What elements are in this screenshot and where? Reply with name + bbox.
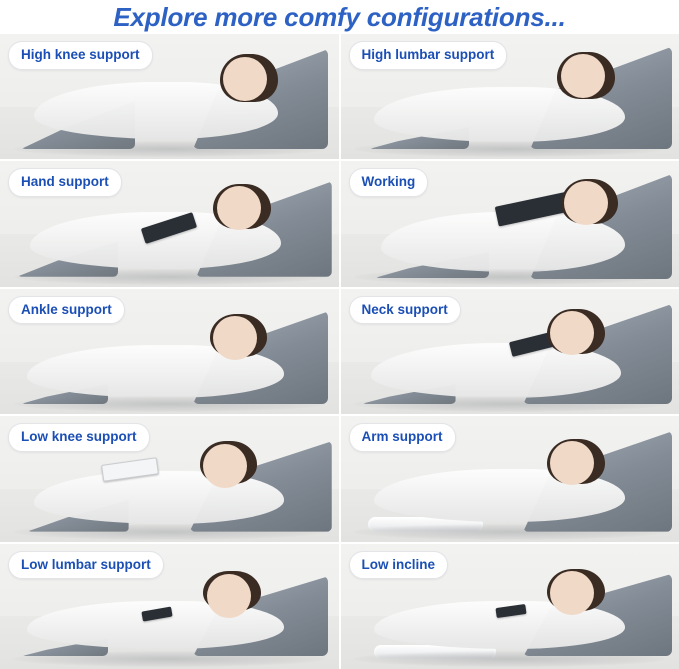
page-title: Explore more comfy configurations... bbox=[0, 0, 679, 34]
config-panel-low-lumbar-support[interactable]: Low lumbar support bbox=[0, 544, 339, 669]
drop-shadow bbox=[354, 269, 665, 285]
config-panel-working[interactable]: Working bbox=[341, 161, 679, 286]
config-panel-high-knee-support[interactable]: High knee support bbox=[0, 34, 339, 159]
panel-label: Ankle support bbox=[8, 296, 125, 325]
config-panel-low-knee-support[interactable]: Low knee support bbox=[0, 416, 339, 541]
drop-shadow bbox=[14, 269, 325, 285]
drop-shadow bbox=[354, 524, 665, 540]
panel-label: Neck support bbox=[349, 296, 461, 325]
drop-shadow bbox=[354, 651, 665, 667]
panel-label: Low knee support bbox=[8, 423, 150, 452]
person-head bbox=[217, 186, 261, 230]
panel-label: Arm support bbox=[349, 423, 456, 452]
panel-label: Working bbox=[349, 168, 429, 197]
drop-shadow bbox=[14, 651, 325, 667]
person-head bbox=[203, 444, 247, 488]
panel-label: Low lumbar support bbox=[8, 551, 164, 580]
config-panel-arm-support[interactable]: Arm support bbox=[341, 416, 679, 541]
config-panel-ankle-support[interactable]: Ankle support bbox=[0, 289, 339, 414]
panel-label: Low incline bbox=[349, 551, 449, 580]
product-infographic: Explore more comfy configurations... Hig… bbox=[0, 0, 679, 669]
drop-shadow bbox=[14, 524, 325, 540]
panel-label: High knee support bbox=[8, 41, 153, 70]
config-panel-hand-support[interactable]: Hand support bbox=[0, 161, 339, 286]
panel-label: High lumbar support bbox=[349, 41, 508, 70]
config-panel-neck-support[interactable]: Neck support bbox=[341, 289, 679, 414]
configuration-grid: High knee support High lumbar support bbox=[0, 34, 679, 669]
person-head bbox=[223, 57, 267, 101]
config-panel-low-incline[interactable]: Low incline bbox=[341, 544, 679, 669]
person-head bbox=[561, 54, 605, 98]
person-head bbox=[207, 574, 251, 618]
panel-label: Hand support bbox=[8, 168, 122, 197]
config-panel-high-lumbar-support[interactable]: High lumbar support bbox=[341, 34, 679, 159]
